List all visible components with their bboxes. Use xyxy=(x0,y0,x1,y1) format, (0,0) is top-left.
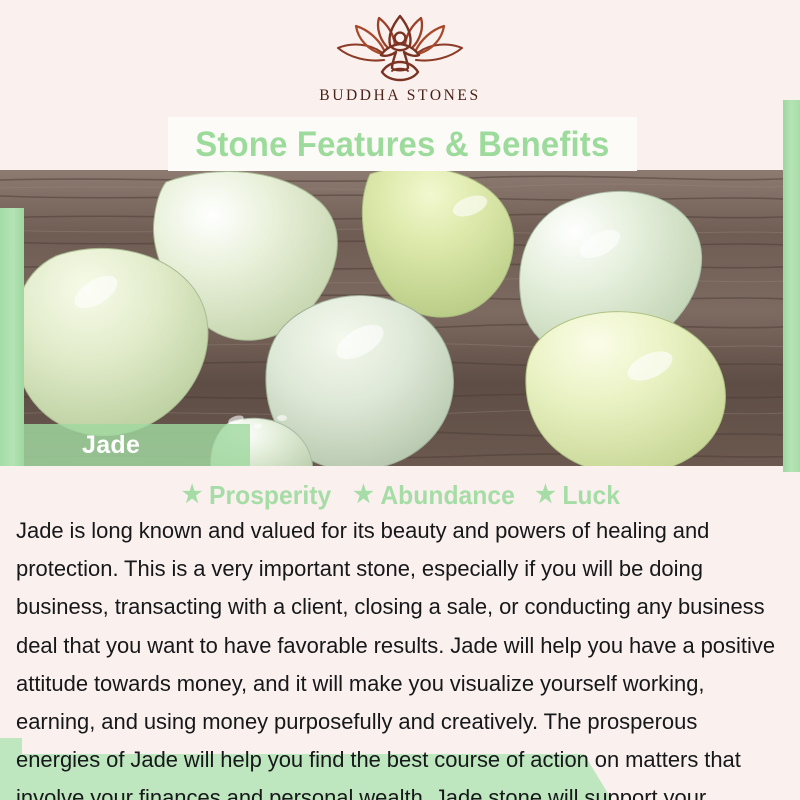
keyword-label: Prosperity xyxy=(209,482,331,508)
keyword-row: ★ Prosperity ★ Abundance ★ Luck xyxy=(0,478,800,512)
star-icon: ★ xyxy=(353,483,373,507)
stone-name-bar: Jade xyxy=(22,424,250,466)
left-green-accent-bar xyxy=(0,208,24,466)
lotus-meditation-icon xyxy=(324,14,476,82)
keyword-item-prosperity: ★ Prosperity xyxy=(182,482,331,508)
star-icon: ★ xyxy=(182,483,202,507)
brand-logo-block: BUDDHA STONES xyxy=(0,14,800,114)
keyword-item-luck: ★ Luck xyxy=(535,482,620,508)
star-icon: ★ xyxy=(535,483,555,507)
keyword-item-abundance: ★ Abundance xyxy=(353,482,515,508)
stone-description: Jade is long known and valued for its be… xyxy=(16,512,776,800)
keyword-label: Abundance xyxy=(380,482,514,508)
right-green-accent-bar xyxy=(783,100,800,472)
title-banner: Stone Features & Benefits xyxy=(168,117,637,171)
stone-name-label: Jade xyxy=(82,433,140,458)
keyword-label: Luck xyxy=(562,482,620,508)
infographic-page: BUDDHA STONES Stone Features & Benefits xyxy=(0,0,800,800)
jade-stones-photo xyxy=(0,170,800,466)
page-title: Stone Features & Benefits xyxy=(195,127,609,162)
brand-name: BUDDHA STONES xyxy=(319,87,480,105)
